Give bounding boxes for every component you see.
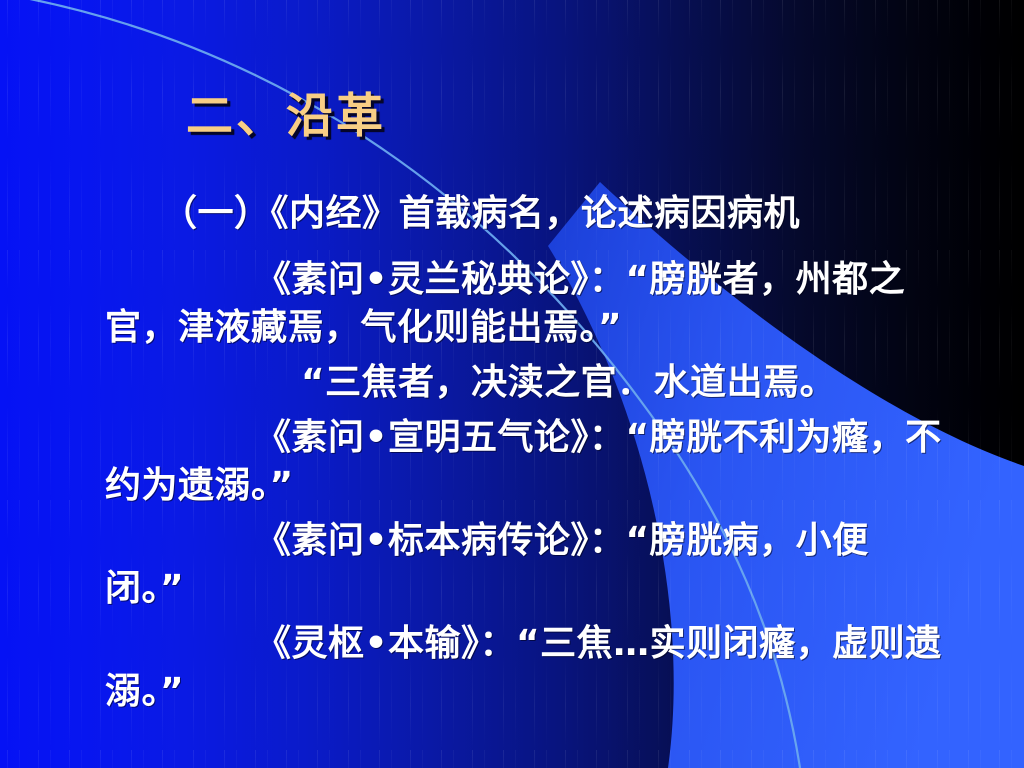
quote-san-jiao-zhe: “三焦者，决渎之官．水道出焉。 <box>105 359 945 407</box>
slide-content: 二、沿革 （一）《内经》首载病名，论述病因病机 《素问•灵兰秘典论》：“膀胱者，… <box>0 0 1024 768</box>
quote-ling-shu-ben-shu: 《灵枢•本输》：“三焦…实则闭癃，虚则遗溺。” <box>105 620 945 716</box>
quote-ling-lan-mi-dian-lun: 《素问•灵兰秘典论》：“膀胱者，州都之官，津液藏焉，气化则能出焉。” <box>105 256 945 352</box>
quote-xuan-ming-wu-qi-lun: 《素问•宣明五气论》：“膀胱不利为癃，不约为遗溺。” <box>105 414 945 510</box>
quote-biao-ben-bing-chuan-lun: 《素问•标本病传论》：“膀胱病，小便闭。” <box>105 517 945 613</box>
section-heading: （一）《内经》首载病名，论述病因病机 <box>105 190 945 238</box>
page-title: 二、沿革 <box>186 92 386 143</box>
presentation-slide: 二、沿革 （一）《内经》首载病名，论述病因病机 《素问•灵兰秘典论》：“膀胱者，… <box>0 0 1024 768</box>
slide-body: （一）《内经》首载病名，论述病因病机 《素问•灵兰秘典论》：“膀胱者，州都之官，… <box>105 190 945 723</box>
